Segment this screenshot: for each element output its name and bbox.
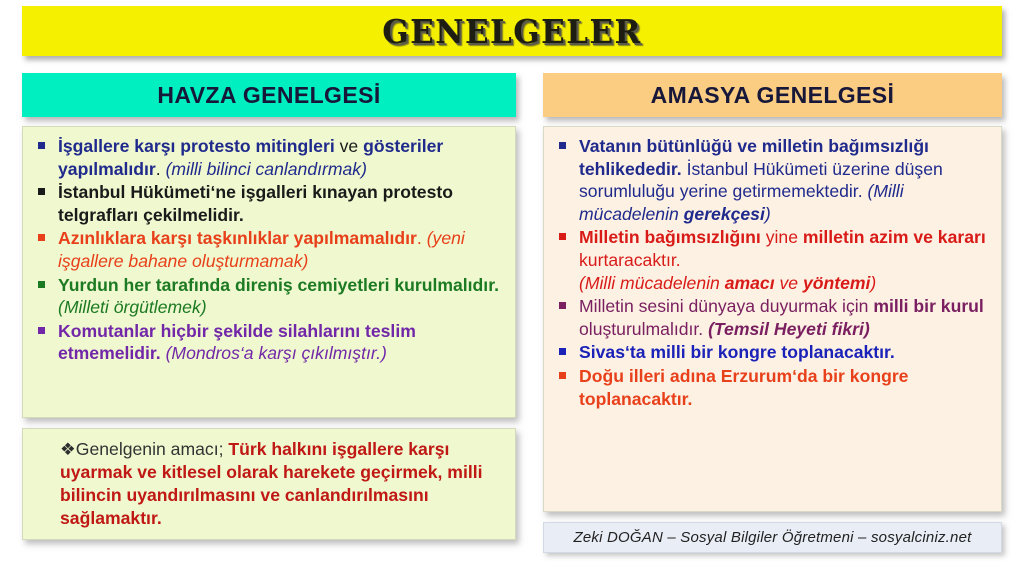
havza-genelgesi-panel: İşgallere karşı protesto mitingleri ve g…	[22, 126, 516, 418]
text-run: Yurdun her tarafında direniş cemiyetleri…	[58, 275, 499, 295]
page-title: GENELGELER	[382, 12, 641, 51]
square-bullet-icon	[559, 233, 566, 240]
text-run: Azınlıklara karşı taşkınlıklar yapılmama…	[58, 228, 417, 248]
havza-bullet-list: İşgallere karşı protesto mitingleri ve g…	[31, 135, 505, 365]
text-run: İşgallere karşı protesto mitingleri	[58, 136, 340, 156]
text-run: Milletin bağımsızlığını	[579, 227, 766, 247]
square-bullet-icon	[38, 142, 45, 149]
text-run: gerekçesi	[684, 204, 765, 224]
square-bullet-icon	[38, 188, 45, 195]
text-run: .	[156, 159, 166, 179]
list-item: İşgallere karşı protesto mitingleri ve g…	[31, 135, 505, 180]
list-item: Milletin sesini dünyaya duyurmak için mi…	[552, 295, 991, 340]
text-run: (Milli mücadelenin	[579, 273, 725, 293]
text-run: milli bir kurul	[873, 296, 983, 316]
text-run: (Milleti örgütlemek)	[58, 297, 207, 317]
text-run: Doğu illeri adına Erzurum‘da bir kongre …	[579, 366, 908, 409]
footer-credit-bar: Zeki DOĞAN – Sosyal Bilgiler Öğretmeni –…	[543, 522, 1002, 553]
list-item: Milletin bağımsızlığını yine milletin az…	[552, 226, 991, 294]
list-item: Doğu illeri adına Erzurum‘da bir kongre …	[552, 365, 991, 410]
text-run: .	[417, 228, 427, 248]
page-title-banner: GENELGELER	[22, 6, 1002, 56]
text-run: (Temsil Heyeti fikri)	[708, 319, 870, 339]
text-run: yine	[766, 227, 803, 247]
square-bullet-icon	[559, 302, 566, 309]
text-run: ve	[340, 136, 363, 156]
column-header-havza-label: HAVZA GENELGESİ	[157, 82, 380, 109]
column-header-amasya-label: AMASYA GENELGESİ	[651, 82, 895, 109]
text-run: )	[765, 204, 771, 224]
havza-purpose-note-panel: ❖Genelgenin amacı; Türk halkını işgaller…	[22, 428, 516, 540]
text-run: )	[870, 273, 876, 293]
list-item: Vatanın bütünlüğü ve milletin bağımsızlı…	[552, 135, 991, 225]
list-item: Sivas‘ta milli bir kongre toplanacaktır.	[552, 341, 991, 364]
list-item: İstanbul Hükümeti‘ne işgalleri kınayan p…	[31, 181, 505, 226]
column-header-amasya: AMASYA GENELGESİ	[543, 73, 1002, 117]
text-run: Milletin sesini dünyaya duyurmak için	[579, 296, 873, 316]
text-run: ve	[775, 273, 803, 293]
text-run: milletin azim ve kararı	[803, 227, 986, 247]
text-run: kurtaracaktır.	[579, 250, 681, 270]
text-run: Genelgenin amacı;	[76, 439, 229, 459]
text-run: (milli bilinci canlandırmak)	[166, 159, 367, 179]
square-bullet-icon	[38, 327, 45, 334]
square-bullet-icon	[559, 142, 566, 149]
text-run: Sivas‘ta milli bir kongre toplanacaktır.	[579, 342, 895, 362]
footer-credit-text: Zeki DOĞAN – Sosyal Bilgiler Öğretmeni –…	[573, 529, 971, 546]
amasya-genelgesi-panel: Vatanın bütünlüğü ve milletin bağımsızlı…	[543, 126, 1002, 512]
amasya-bullet-list: Vatanın bütünlüğü ve milletin bağımsızlı…	[552, 135, 991, 410]
text-run: (Mondros‘a karşı çıkılmıştır.)	[166, 343, 387, 363]
list-item: Azınlıklara karşı taşkınlıklar yapılmama…	[31, 227, 505, 272]
list-item: Yurdun her tarafında direniş cemiyetleri…	[31, 274, 505, 319]
text-run: yöntemi	[803, 273, 870, 293]
square-bullet-icon	[559, 372, 566, 379]
havza-purpose-note: ❖Genelgenin amacı; Türk halkını işgaller…	[31, 438, 505, 529]
text-run: oluşturulmalıdır.	[579, 319, 708, 339]
square-bullet-icon	[38, 234, 45, 241]
text-run: amacı	[725, 273, 775, 293]
square-bullet-icon	[559, 348, 566, 355]
list-item: Komutanlar hiçbir şekilde silahlarını te…	[31, 320, 505, 365]
column-header-havza: HAVZA GENELGESİ	[22, 73, 516, 117]
diamond-bullet-icon: ❖	[60, 439, 76, 459]
text-run: İstanbul Hükümeti‘ne işgalleri kınayan p…	[58, 182, 453, 225]
square-bullet-icon	[38, 281, 45, 288]
